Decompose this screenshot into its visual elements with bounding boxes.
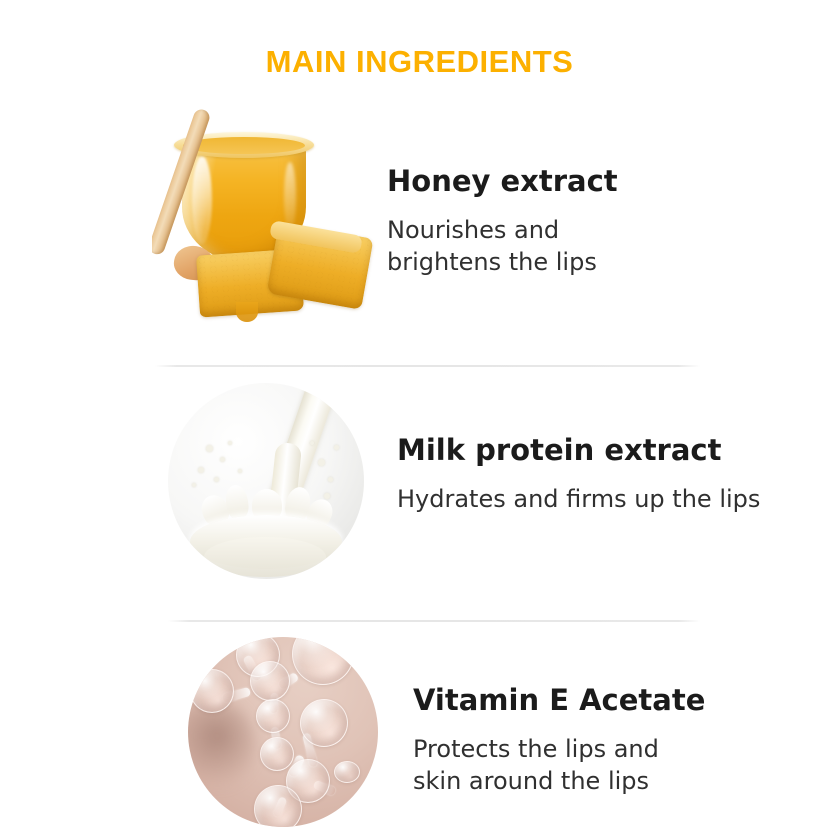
molecule-atom: [190, 669, 234, 713]
milk-droplet: [238, 469, 242, 473]
milk-droplet: [214, 477, 219, 482]
molecule-atom: [334, 761, 360, 783]
vitamin-e-acetate-image: [188, 637, 378, 827]
ingredient-item-vitamin-e: Vitamin E Acetate Protects the lips and …: [0, 637, 839, 839]
ingredient-description-line-1: Protects the lips and: [413, 733, 813, 765]
ingredient-item-honey: Honey extract Nourishes and brightens th…: [0, 104, 839, 354]
section-divider: [168, 620, 700, 622]
ingredient-item-milk-protein: Milk protein extract Hydrates and firms …: [0, 383, 839, 583]
molecule-icon: [188, 637, 378, 827]
molecule-atom: [260, 737, 294, 771]
ingredient-description-line-2: skin around the lips: [413, 765, 813, 797]
ingredient-description-line-1: Nourishes and: [387, 214, 787, 246]
jar-highlight-left: [192, 156, 212, 244]
section-divider: [155, 365, 700, 367]
milk-pool-inner: [204, 537, 326, 577]
ingredient-name: Vitamin E Acetate: [413, 685, 813, 717]
ingredient-name: Honey extract: [387, 166, 787, 198]
molecule-atom: [256, 699, 290, 733]
ingredient-description-line-1: Hydrates and firms up the lips: [397, 483, 797, 515]
vitamin-e-acetate-text: Vitamin E Acetate Protects the lips and …: [413, 685, 813, 798]
milk-droplet: [334, 445, 339, 450]
milk-droplet: [328, 477, 333, 482]
ingredient-name: Milk protein extract: [397, 435, 797, 467]
ingredient-description-line-2: brightens the lips: [387, 246, 787, 278]
jar-highlight-right: [284, 162, 296, 232]
molecule-atom: [292, 637, 354, 685]
milk-droplet: [228, 441, 232, 445]
molecule-atom: [250, 661, 290, 701]
background-blur-blob: [188, 699, 256, 791]
ingredient-description: Hydrates and firms up the lips: [397, 483, 797, 515]
molecule-atom: [254, 785, 302, 827]
honey-jar-icon: [152, 104, 384, 336]
ingredient-description: Protects the lips and skin around the li…: [413, 733, 813, 798]
milk-droplet: [220, 457, 225, 462]
milk-droplet: [198, 467, 204, 473]
honey-extract-image: [152, 104, 384, 336]
milk-protein-extract-text: Milk protein extract Hydrates and firms …: [397, 435, 797, 515]
page-title: MAIN INGREDIENTS: [0, 44, 839, 80]
milk-droplet: [206, 445, 213, 452]
milk-droplet: [324, 493, 330, 499]
honey-extract-text: Honey extract Nourishes and brightens th…: [387, 166, 787, 279]
molecule-atom: [300, 699, 348, 747]
milk-droplet: [318, 459, 325, 466]
main-ingredients-page: MAIN INGREDIENTS Honey extract Nourishes…: [0, 0, 839, 839]
ingredient-description: Nourishes and brightens the lips: [387, 214, 787, 279]
honey-drip: [236, 302, 258, 322]
milk-splash-icon: [168, 383, 364, 579]
milk-droplet: [310, 441, 314, 445]
milk-protein-extract-image: [168, 383, 364, 579]
milk-droplet: [192, 483, 196, 487]
